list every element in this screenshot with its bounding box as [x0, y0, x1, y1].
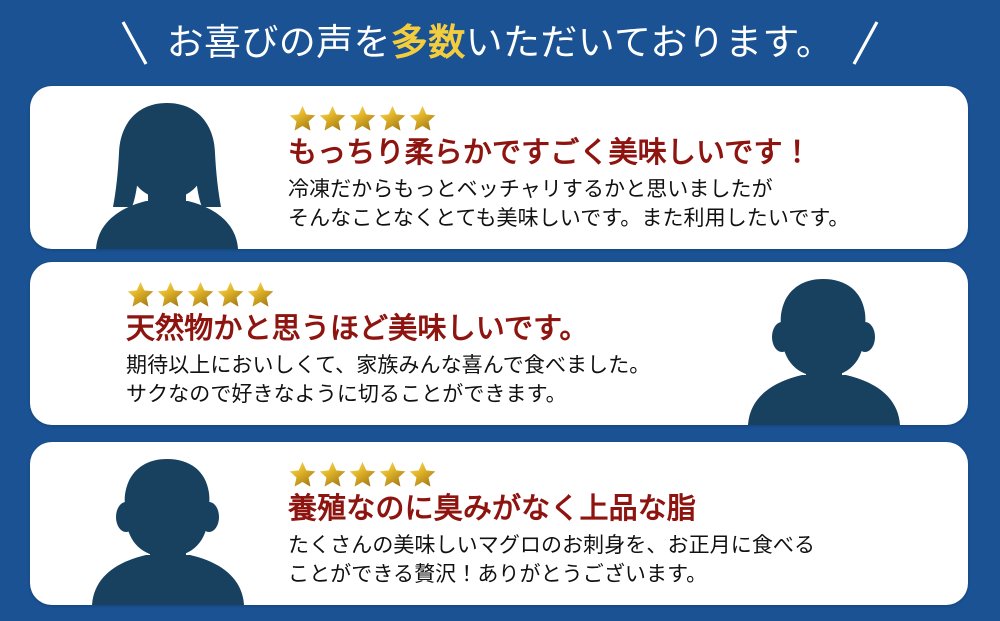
star-rating [288, 104, 948, 132]
star-icon [318, 104, 347, 132]
star-icon [288, 460, 317, 488]
testimonial-title: 天然物かと思うほど美味しいです。 [126, 312, 768, 346]
testimonial-body-line: 期待以上においしくて、家族みんな喜んで食べました。 [126, 351, 768, 380]
testimonial-body-line: ことができる贅沢！ありがとうございます。 [288, 560, 948, 589]
star-icon [378, 460, 407, 488]
testimonial-body-line: たくさんの美味しいマグロのお刺身を、お正月に食べる [288, 531, 948, 560]
testimonial-body-line: サクなので好きなように切ることができます。 [126, 380, 768, 409]
page-header: お喜びの声を多数いただいております。 [0, 0, 1000, 86]
left-slash-decoration [119, 18, 153, 68]
female-silhouette-avatar [78, 97, 256, 249]
star-icon [156, 280, 185, 308]
testimonial-title: もっちり柔らかですごく美味しいです！ [288, 136, 948, 170]
testimonial-content: 天然物かと思うほど美味しいです。 期待以上においしくて、家族みんな喜んで食べまし… [126, 262, 768, 425]
testimonial-card: 天然物かと思うほど美味しいです。 期待以上においしくて、家族みんな喜んで食べまし… [30, 262, 968, 425]
page-title-part1: お喜びの声を [167, 23, 391, 64]
testimonial-body-line: そんなことなくとても美味しいです。また利用したいです。 [288, 204, 948, 233]
page-title-part2: いただいております。 [466, 23, 834, 64]
star-icon [288, 104, 317, 132]
testimonial-body: 冷凍だからもっとベッチャリするかと思いましたが そんなことなくとても美味しいです… [288, 175, 948, 233]
star-icon [318, 460, 347, 488]
star-icon [216, 280, 245, 308]
star-rating [126, 280, 768, 308]
testimonial-content: 養殖なのに臭みがなく上品な脂 たくさんの美味しいマグロのお刺身を、お正月に食べる… [288, 442, 948, 605]
right-slash-decoration [847, 18, 881, 68]
testimonial-card: 養殖なのに臭みがなく上品な脂 たくさんの美味しいマグロのお刺身を、お正月に食べる… [30, 442, 968, 605]
testimonials-page: お喜びの声を多数いただいております。 [0, 0, 1000, 621]
testimonial-body-line: 冷凍だからもっとベッチャリするかと思いましたが [288, 175, 948, 204]
male-silhouette-avatar [78, 453, 256, 605]
star-icon [378, 104, 407, 132]
page-title-highlight: 多数 [391, 23, 466, 64]
testimonial-title: 養殖なのに臭みがなく上品な脂 [288, 492, 948, 526]
star-icon [348, 104, 377, 132]
star-icon [246, 280, 275, 308]
star-rating [288, 460, 948, 488]
testimonial-card: もっちり柔らかですごく美味しいです！ 冷凍だからもっとベッチャリするかと思いまし… [30, 86, 968, 249]
star-icon [408, 460, 437, 488]
star-icon [186, 280, 215, 308]
testimonial-body: 期待以上においしくて、家族みんな喜んで食べました。 サクなので好きなように切るこ… [126, 351, 768, 409]
star-icon [348, 460, 377, 488]
testimonial-body: たくさんの美味しいマグロのお刺身を、お正月に食べる ことができる贅沢！ありがとう… [288, 531, 948, 589]
testimonial-content: もっちり柔らかですごく美味しいです！ 冷凍だからもっとベッチャリするかと思いまし… [288, 86, 948, 249]
page-title: お喜びの声を多数いただいております。 [167, 25, 834, 62]
star-icon [126, 280, 155, 308]
star-icon [408, 104, 437, 132]
